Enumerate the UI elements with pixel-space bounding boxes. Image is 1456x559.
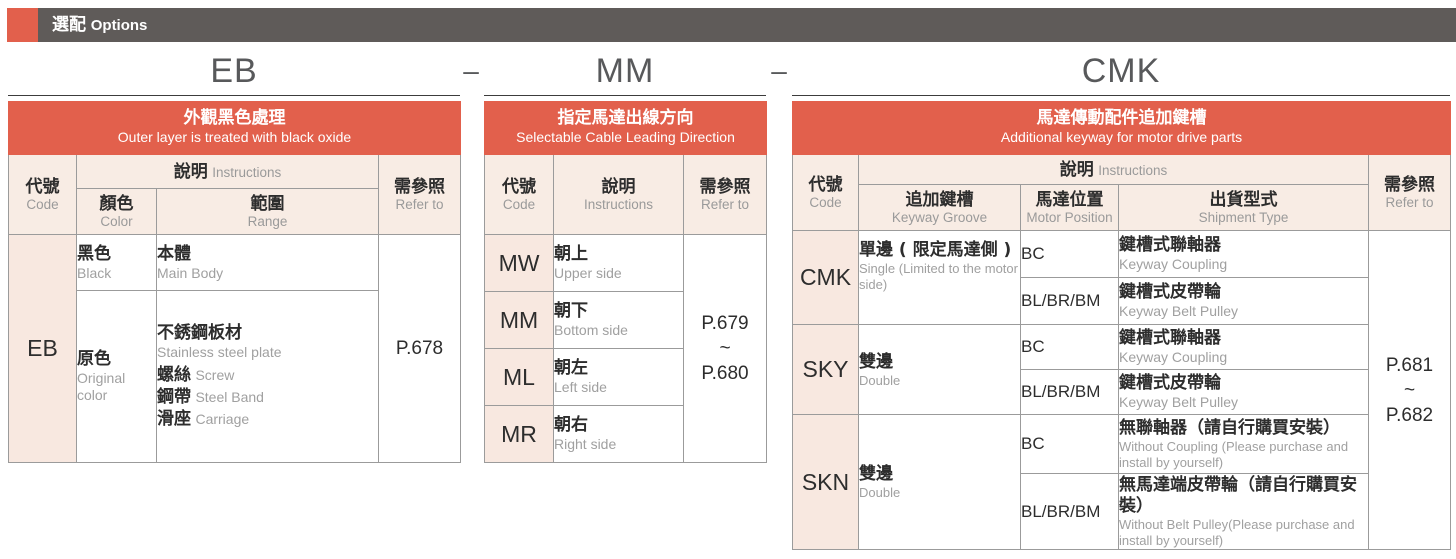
- table-mm-title-en: Selectable Cable Leading Direction: [487, 129, 764, 146]
- cell-direction-up-en: Upper side: [554, 265, 683, 282]
- banner-title-zh: 選配: [52, 15, 86, 35]
- table-eb-title-cell: 外觀黑色處理 Outer layer is treated with black…: [9, 102, 461, 155]
- col-header-refer: 需參照 Refer to: [379, 155, 461, 235]
- refer-line-2: P.682: [1369, 403, 1450, 428]
- col-header-code-zh: 代號: [793, 175, 858, 195]
- col-header-code-en: Code: [9, 197, 76, 213]
- banner-accent-block: [7, 8, 38, 42]
- cell-shipment-skn-blbrbm-en: Without Belt Pulley(Please purchase and …: [1119, 517, 1368, 549]
- cell-keyway-cmk-zh: 單邊 ( 限定馬達側 ): [859, 239, 1020, 261]
- col-header-range: 範圍 Range: [157, 189, 379, 235]
- cell-shipment-skn-bc-en: Without Coupling (Please purchase and in…: [1119, 439, 1368, 471]
- cell-shipment-sky-bc-zh: 鍵槽式聯軸器: [1119, 328, 1368, 349]
- col-header-color-zh: 顏色: [77, 194, 156, 214]
- col-header-refer: 需參照 Refer to: [1369, 155, 1451, 231]
- cell-range-main-body-zh: 本體: [157, 244, 378, 265]
- cell-color-black: 黑色 Black: [77, 235, 157, 291]
- separator-1: –: [460, 50, 482, 92]
- cell-direction-right: 朝右 Right side: [554, 406, 684, 463]
- cell-direction-down-zh: 朝下: [554, 301, 683, 322]
- col-header-instructions: 說明 Instructions: [554, 155, 684, 235]
- banner-title: 選配 Options: [52, 8, 147, 42]
- table-eb-header-red: 外觀黑色處理 Outer layer is treated with black…: [9, 102, 461, 155]
- title-cmk-rule: [792, 95, 1450, 96]
- page-banner: 選配 Options: [0, 8, 1456, 42]
- table-eb-title-zh: 外觀黑色處理: [11, 108, 458, 129]
- range-line-3-en: Carriage: [195, 411, 249, 427]
- cell-keyway-sky-zh: 雙邊: [859, 351, 1020, 373]
- col-header-code: 代號 Code: [485, 155, 554, 235]
- col-header-code-en: Code: [485, 197, 553, 213]
- banner-bar: [38, 8, 1456, 42]
- col-header-keyway: 追加鍵槽 Keyway Groove: [859, 185, 1021, 231]
- cell-code-ml: ML: [485, 349, 554, 406]
- col-header-range-en: Range: [157, 214, 378, 230]
- cell-keyway-sky-en: Double: [859, 373, 1020, 389]
- table-cmk-title-en: Additional keyway for motor drive parts: [795, 129, 1448, 146]
- cell-motor-skn-blbrbm: BL/BR/BM: [1021, 474, 1119, 550]
- cell-range-original: 不銹鋼板材 Stainless steel plate 螺絲 Screw 鋼帶 …: [157, 291, 379, 463]
- col-header-code-en: Code: [793, 195, 858, 211]
- table-row: EB 黑色 Black 本體 Main Body P.678: [9, 235, 461, 291]
- cell-color-black-en: Black: [77, 265, 156, 282]
- col-header-instructions-zh: 說明: [554, 177, 683, 197]
- table-eb: 外觀黑色處理 Outer layer is treated with black…: [8, 101, 461, 463]
- col-header-shipment-en: Shipment Type: [1119, 210, 1368, 226]
- cell-shipment-sky-blbrbm-en: Keyway Belt Pulley: [1119, 394, 1368, 411]
- col-header-shipment: 出貨型式 Shipment Type: [1119, 185, 1369, 231]
- cell-shipment-skn-blbrbm-zh: 無馬達端皮帶輪（請自行購買安裝）: [1119, 475, 1368, 517]
- cell-direction-left-en: Left side: [554, 379, 683, 396]
- cell-code-cmk: CMK: [793, 231, 859, 325]
- cell-motor-sky-blbrbm: BL/BR/BM: [1021, 370, 1119, 415]
- cell-shipment-cmk-blbrbm: 鍵槽式皮帶輪 Keyway Belt Pulley: [1119, 278, 1369, 325]
- table-mm-title-zh: 指定馬達出線方向: [487, 108, 764, 129]
- cell-motor-cmk-bc: BC: [1021, 231, 1119, 278]
- cell-shipment-sky-blbrbm-zh: 鍵槽式皮帶輪: [1119, 373, 1368, 394]
- cell-color-original-zh: 原色: [77, 349, 156, 370]
- refer-line-2: P.680: [684, 361, 766, 386]
- col-header-instructions-zh: 說明: [174, 162, 208, 182]
- cell-shipment-skn-bc-zh: 無聯軸器（請自行購買安裝）: [1119, 418, 1368, 439]
- cell-motor-sky-bc: BC: [1021, 325, 1119, 370]
- table-mm-title-cell: 指定馬達出線方向 Selectable Cable Leading Direct…: [485, 102, 767, 155]
- table-cmk: 馬達傳動配件追加鍵槽 Additional keyway for motor d…: [792, 101, 1451, 550]
- table-row: SKY 雙邊 Double BC 鍵槽式聯軸器 Keyway Coupling: [793, 325, 1451, 370]
- col-header-refer-en: Refer to: [1369, 195, 1450, 211]
- cell-keyway-skn-zh: 雙邊: [859, 463, 1020, 485]
- cell-direction-up-zh: 朝上: [554, 244, 683, 265]
- col-header-refer-en: Refer to: [684, 197, 766, 213]
- cell-direction-left-zh: 朝左: [554, 358, 683, 379]
- title-eb: EB: [8, 50, 460, 92]
- cell-shipment-sky-bc: 鍵槽式聯軸器 Keyway Coupling: [1119, 325, 1369, 370]
- cell-refer-eb: P.678: [379, 235, 461, 463]
- cell-direction-right-en: Right side: [554, 436, 683, 453]
- cell-shipment-cmk-bc-zh: 鍵槽式聯軸器: [1119, 235, 1368, 256]
- col-header-code: 代號 Code: [9, 155, 77, 235]
- cell-keyway-cmk: 單邊 ( 限定馬達側 ) Single (Limited to the moto…: [859, 231, 1021, 325]
- col-header-range-zh: 範圍: [157, 194, 378, 214]
- col-header-color-en: Color: [77, 214, 156, 230]
- table-mm-header-row: 代號 Code 說明 Instructions 需參照 Refer to: [485, 155, 767, 235]
- table-cmk-header-row-2: 追加鍵槽 Keyway Groove 馬達位置 Motor Position 出…: [793, 185, 1451, 231]
- refer-line-0: P.679: [684, 311, 766, 336]
- range-line-2-zh: 鋼帶: [157, 387, 191, 407]
- cell-color-black-zh: 黑色: [77, 244, 156, 265]
- col-header-refer-zh: 需參照: [1369, 175, 1450, 195]
- cell-keyway-cmk-en: Single (Limited to the motor side): [859, 261, 1020, 293]
- range-line-3-zh: 滑座: [157, 409, 191, 429]
- table-cmk-title-cell: 馬達傳動配件追加鍵槽 Additional keyway for motor d…: [793, 102, 1451, 155]
- table-eb-header-row-1: 代號 Code 說明 Instructions 需參照 Refer to: [9, 155, 461, 189]
- cell-color-original-en: Original color: [77, 370, 156, 404]
- col-header-refer-zh: 需參照: [684, 177, 766, 197]
- cell-shipment-sky-bc-en: Keyway Coupling: [1119, 349, 1368, 366]
- col-header-instructions: 說明 Instructions: [859, 155, 1369, 185]
- col-header-refer-en: Refer to: [379, 197, 460, 213]
- col-header-motor-position: 馬達位置 Motor Position: [1021, 185, 1119, 231]
- refer-line-1: ~: [684, 336, 766, 361]
- cell-motor-cmk-blbrbm: BL/BR/BM: [1021, 278, 1119, 325]
- col-header-keyway-zh: 追加鍵槽: [859, 190, 1020, 210]
- range-line-0-zh: 不銹鋼板材: [157, 323, 378, 344]
- col-header-instructions-en: Instructions: [1098, 163, 1167, 178]
- cell-keyway-skn-en: Double: [859, 485, 1020, 501]
- cell-range-main-body-en: Main Body: [157, 265, 378, 282]
- cell-direction-right-zh: 朝右: [554, 415, 683, 436]
- table-row: CMK 單邊 ( 限定馬達側 ) Single (Limited to the …: [793, 231, 1451, 278]
- cell-shipment-cmk-blbrbm-zh: 鍵槽式皮帶輪: [1119, 282, 1368, 303]
- cell-direction-down: 朝下 Bottom side: [554, 292, 684, 349]
- col-header-instructions: 說明 Instructions: [77, 155, 379, 189]
- range-line-2: 鋼帶 Steel Band: [157, 387, 378, 409]
- cell-motor-skn-bc: BC: [1021, 415, 1119, 474]
- col-header-motor-position-en: Motor Position: [1021, 210, 1118, 226]
- col-header-keyway-en: Keyway Groove: [859, 210, 1020, 226]
- refer-line-1: ~: [1369, 378, 1450, 403]
- col-header-instructions-en: Instructions: [554, 197, 683, 213]
- separator-2: –: [768, 50, 790, 92]
- cell-code-mw: MW: [485, 235, 554, 292]
- cell-code-eb: EB: [9, 235, 77, 463]
- range-line-1-en: Screw: [195, 367, 234, 383]
- title-eb-rule: [8, 95, 460, 96]
- banner-title-en: Options: [91, 17, 148, 34]
- title-mm-rule: [484, 95, 766, 96]
- range-line-3: 滑座 Carriage: [157, 409, 378, 431]
- cell-shipment-cmk-blbrbm-en: Keyway Belt Pulley: [1119, 303, 1368, 320]
- cell-refer-mm: P.679 ~ P.680: [684, 235, 767, 463]
- title-cmk: CMK: [792, 50, 1450, 92]
- cell-shipment-skn-bc: 無聯軸器（請自行購買安裝） Without Coupling (Please p…: [1119, 415, 1369, 474]
- col-header-code: 代號 Code: [793, 155, 859, 231]
- cell-shipment-cmk-bc: 鍵槽式聯軸器 Keyway Coupling: [1119, 231, 1369, 278]
- table-cmk-header-row-1: 代號 Code 說明 Instructions 需參照 Refer to: [793, 155, 1451, 185]
- table-mm-header-red: 指定馬達出線方向 Selectable Cable Leading Direct…: [485, 102, 767, 155]
- cell-code-sky: SKY: [793, 325, 859, 415]
- col-header-instructions-en: Instructions: [212, 165, 281, 180]
- cell-refer-cmk: P.681 ~ P.682: [1369, 231, 1451, 550]
- title-mm: MM: [484, 50, 766, 92]
- cell-keyway-sky: 雙邊 Double: [859, 325, 1021, 415]
- table-row: SKN 雙邊 Double BC 無聯軸器（請自行購買安裝） Without C…: [793, 415, 1451, 474]
- col-header-shipment-zh: 出貨型式: [1119, 190, 1368, 210]
- cell-keyway-skn: 雙邊 Double: [859, 415, 1021, 550]
- cell-color-original: 原色 Original color: [77, 291, 157, 463]
- range-line-1-zh: 螺絲: [157, 365, 191, 385]
- code-title-row: EB – MM – CMK: [0, 50, 1456, 98]
- refer-line-0: P.681: [1369, 353, 1450, 378]
- col-header-code-zh: 代號: [9, 177, 76, 197]
- cell-direction-left: 朝左 Left side: [554, 349, 684, 406]
- cell-range-main-body: 本體 Main Body: [157, 235, 379, 291]
- cell-shipment-skn-blbrbm: 無馬達端皮帶輪（請自行購買安裝） Without Belt Pulley(Ple…: [1119, 474, 1369, 550]
- cell-shipment-sky-blbrbm: 鍵槽式皮帶輪 Keyway Belt Pulley: [1119, 370, 1369, 415]
- col-header-color: 顏色 Color: [77, 189, 157, 235]
- cell-direction-up: 朝上 Upper side: [554, 235, 684, 292]
- col-header-code-zh: 代號: [485, 177, 553, 197]
- cell-code-skn: SKN: [793, 415, 859, 550]
- table-cmk-title-zh: 馬達傳動配件追加鍵槽: [795, 108, 1448, 129]
- table-mm: 指定馬達出線方向 Selectable Cable Leading Direct…: [484, 101, 767, 463]
- cell-direction-down-en: Bottom side: [554, 322, 683, 339]
- table-eb-title-en: Outer layer is treated with black oxide: [11, 129, 458, 146]
- range-line-0-en: Stainless steel plate: [157, 344, 378, 361]
- col-header-refer-zh: 需參照: [379, 177, 460, 197]
- table-row: MW 朝上 Upper side P.679 ~ P.680: [485, 235, 767, 292]
- col-header-motor-position-zh: 馬達位置: [1021, 190, 1118, 210]
- table-cmk-header-red: 馬達傳動配件追加鍵槽 Additional keyway for motor d…: [793, 102, 1451, 155]
- cell-code-mm: MM: [485, 292, 554, 349]
- cell-shipment-cmk-bc-en: Keyway Coupling: [1119, 256, 1368, 273]
- col-header-instructions-zh: 說明: [1060, 160, 1094, 180]
- range-line-1: 螺絲 Screw: [157, 365, 378, 387]
- col-header-refer: 需參照 Refer to: [684, 155, 767, 235]
- range-line-2-en: Steel Band: [195, 389, 264, 405]
- cell-code-mr: MR: [485, 406, 554, 463]
